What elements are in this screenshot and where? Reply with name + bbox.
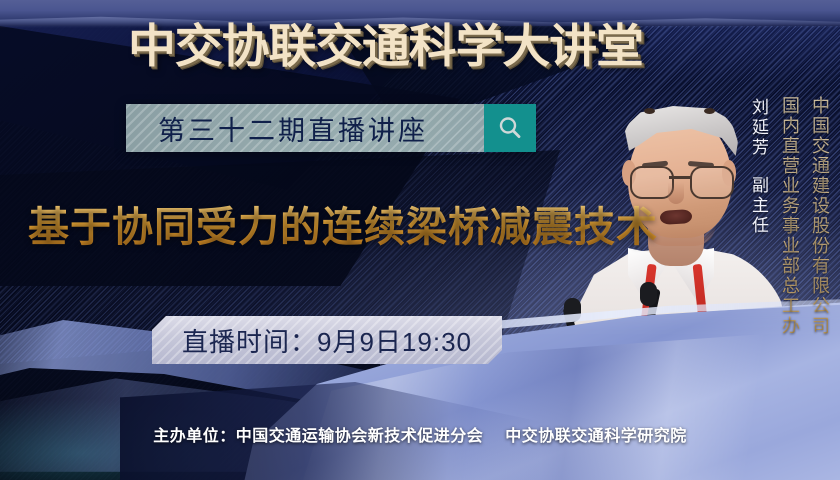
glasses-bridge — [669, 176, 692, 179]
search-button[interactable] — [484, 104, 536, 152]
footer-organizers: 主办单位：中国交通运输协会新技术促进分会中交协联交通科学研究院 — [0, 422, 840, 446]
speaker-eye-right — [704, 108, 715, 114]
search-icon — [496, 114, 524, 142]
footer-org-primary: 中国交通运输协会新技术促进分会 — [236, 428, 484, 445]
lecture-title: 基于协同受力的连续梁桥减震技术 — [28, 203, 658, 251]
speaker-nose — [668, 182, 684, 204]
episode-banner: 第三十二期直播讲座 — [126, 104, 536, 152]
speaker-name: 刘延芳 — [748, 98, 768, 158]
live-time-badge: 直播时间：9月9日19:30 — [152, 316, 502, 364]
live-time-label: 直播时间：9月9日19:30 — [182, 322, 472, 359]
glasses-lens-right — [690, 166, 734, 199]
episode-banner-label: 第三十二期直播讲座 — [158, 109, 428, 148]
microphone-center-head — [640, 282, 657, 306]
speaker-role: 副主任 — [748, 176, 768, 236]
footer-label: 主办单位： — [153, 428, 236, 445]
speaker-mouth — [660, 209, 693, 225]
speaker-eye-left — [644, 108, 655, 114]
footer-org-secondary: 中交协联交通科学研究院 — [505, 428, 687, 445]
speaker-department: 国内直营业务事业部总工办 — [779, 96, 800, 336]
live-lecture-poster: 中交协联交通科学大讲堂 第三十二期直播讲座 基于协同受力的连续梁桥减震技术 直播… — [0, 0, 840, 480]
page-title: 中交协联交通科学大讲堂 — [128, 20, 643, 72]
speaker-organization: 中国交通建设股份有限公司 — [809, 96, 830, 336]
